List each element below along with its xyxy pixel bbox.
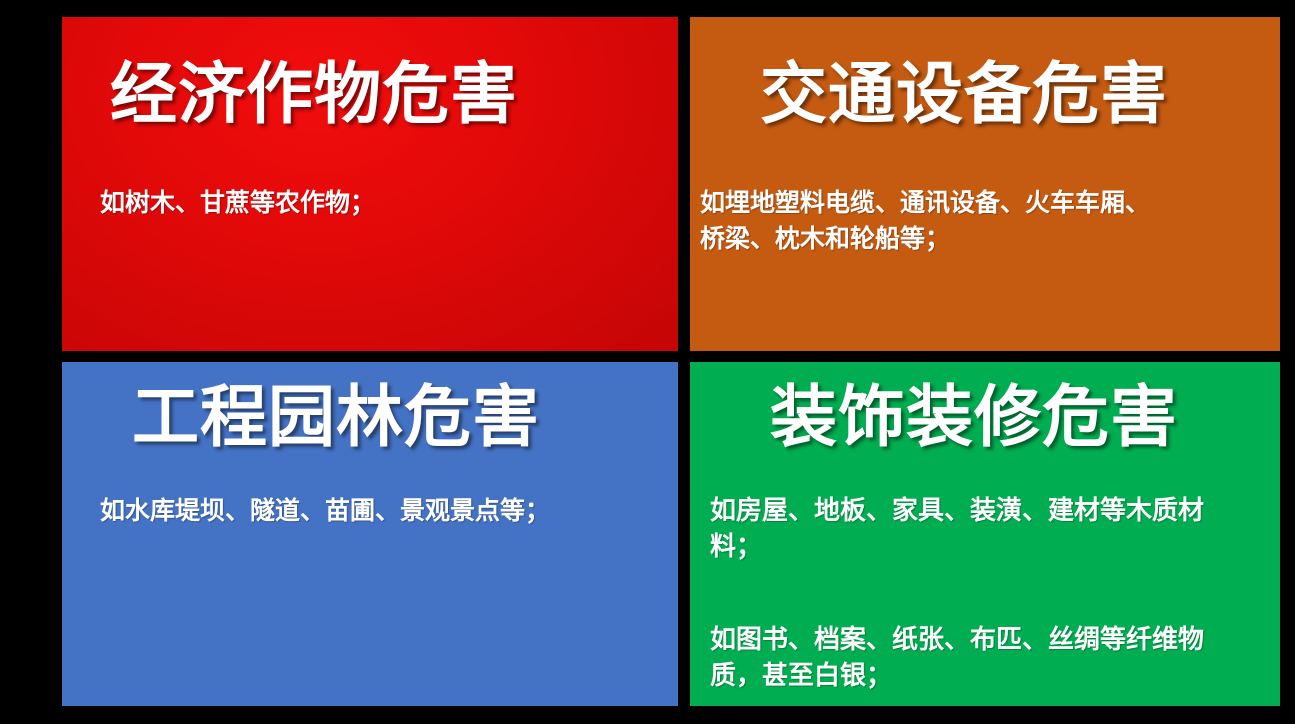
panel-title-economic-crops: 经济作物危害 [110, 61, 518, 128]
panel-paragraph: 如水库堤坝、隧道、苗圃、景观景点等； [100, 493, 678, 529]
panel-engineering-landscape[interactable]: 工程园林危害 如水库堤坝、隧道、苗圃、景观景点等； [62, 362, 678, 706]
slide-canvas: 经济作物危害 如树木、甘蔗等农作物； 交通设备危害 如埋地塑料电缆、通讯设备、火… [0, 0, 1295, 724]
panel-body-decoration-renovation: 如房屋、地板、家具、装潢、建材等木质材料； 如图书、档案、纸张、布匹、丝绸等纤维… [710, 493, 1255, 695]
panel-transport-equipment[interactable]: 交通设备危害 如埋地塑料电缆、通讯设备、火车车厢、桥梁、枕木和轮船等； [690, 17, 1280, 351]
panel-paragraph: 如图书、档案、纸张、布匹、丝绸等纤维物质，甚至白银； [710, 622, 1255, 695]
panel-paragraph: 如树木、甘蔗等农作物； [100, 185, 640, 221]
panel-body-transport-equipment: 如埋地塑料电缆、通讯设备、火车车厢、桥梁、枕木和轮船等； [700, 185, 1170, 256]
panel-title-transport-equipment: 交通设备危害 [760, 61, 1168, 128]
panel-decoration-renovation[interactable]: 装饰装修危害 如房屋、地板、家具、装潢、建材等木质材料； 如图书、档案、纸张、布… [690, 362, 1280, 706]
panel-body-engineering-landscape: 如水库堤坝、隧道、苗圃、景观景点等； [100, 493, 678, 529]
panel-economic-crops[interactable]: 经济作物危害 如树木、甘蔗等农作物； [62, 17, 678, 351]
panel-paragraph: 如房屋、地板、家具、装潢、建材等木质材料； [710, 493, 1255, 566]
panel-body-economic-crops: 如树木、甘蔗等农作物； [100, 185, 640, 221]
panel-title-decoration-renovation: 装饰装修危害 [770, 384, 1178, 451]
panel-paragraph: 如埋地塑料电缆、通讯设备、火车车厢、桥梁、枕木和轮船等； [700, 185, 1170, 256]
panel-title-engineering-landscape: 工程园林危害 [132, 384, 540, 451]
